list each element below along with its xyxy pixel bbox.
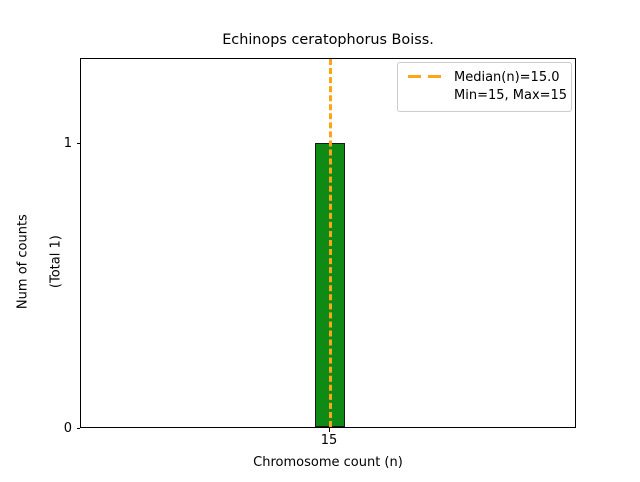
page-title: Echinops ceratophorus Boiss. (80, 32, 576, 49)
x-axis-label: Chromosome count (n) (80, 455, 576, 470)
y-axis-label-line2: (Total 1) (48, 42, 64, 482)
y-axis-label-line1: Num of counts (16, 42, 32, 482)
xtick-mark-15 (329, 428, 330, 432)
median-line (329, 59, 332, 427)
plot-area (80, 58, 576, 428)
legend: Median(n)=15.0 Min=15, Max=15 (397, 62, 572, 112)
legend-item-median: Median(n)=15.0 Min=15, Max=15 (406, 69, 563, 104)
legend-minmax-label: Min=15, Max=15 (454, 87, 567, 105)
legend-median-label: Median(n)=15.0 (454, 70, 560, 85)
plot-inner (81, 59, 575, 427)
legend-item-median-text: Median(n)=15.0 Min=15, Max=15 (454, 69, 567, 104)
xtick-label-15: 15 (289, 434, 369, 449)
median-dashed-line-icon (406, 69, 446, 84)
y-axis-label: Num of counts (Total 1) (0, 42, 81, 482)
matplotlib-figure: Echinops ceratophorus Boiss. 0 1 15 Chro… (0, 0, 640, 480)
